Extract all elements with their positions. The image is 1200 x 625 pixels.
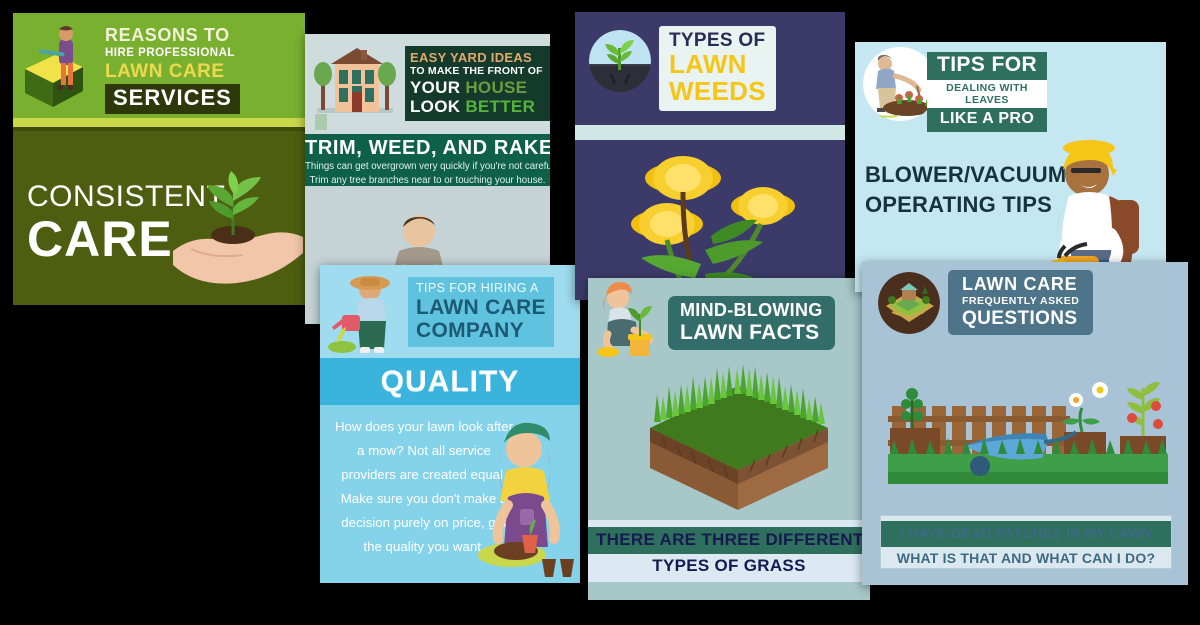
card-reasons-lawn-care-services[interactable]: REASONS TO HIRE PROFESSIONAL LAWN CARE S… — [13, 13, 305, 305]
house-icon — [311, 42, 399, 130]
header-line-2: TO MAKE THE FRONT OF — [410, 65, 550, 78]
header-line-4: LOOK BETTER — [410, 97, 550, 116]
footer-line-1: THERE ARE THREE DIFFERENT — [588, 527, 870, 554]
man-raking-leaves-icon — [863, 46, 937, 122]
footer-spacer — [588, 582, 870, 600]
card-mind-blowing-lawn-facts[interactable]: MIND-BLOWING LAWN FACTS THERE ARE THREE — [588, 278, 870, 600]
card-lawn-care-faq[interactable]: LAWN CARE FREQUENTLY ASKED QUESTIONS — [862, 262, 1188, 585]
header-line-3: QUESTIONS — [962, 308, 1079, 329]
header-line-1: MIND-BLOWING — [680, 300, 823, 321]
woman-planting-pots-icon — [472, 409, 580, 579]
fence-wheelbarrow-garden-icon — [868, 362, 1184, 492]
header-line-2: LAWN FACTS — [680, 321, 823, 344]
card-tips-dealing-with-leaves[interactable]: TIPS FOR DEALING WITH LEAVES LIKE A PRO … — [855, 42, 1166, 292]
header-line-1: TIPS FOR HIRING A — [416, 280, 546, 296]
header-text-group: REASONS TO HIRE PROFESSIONAL LAWN CARE S… — [105, 25, 303, 114]
footer-line-2: TYPES OF GRASS — [588, 554, 870, 577]
header-stripe — [575, 125, 845, 140]
header-line-3: COMPANY — [416, 319, 546, 342]
header-line-2: HIRE PROFESSIONAL — [105, 45, 303, 61]
card-footer-question: I HAVE DEAD PATCHES IN MY LAWN WHAT IS T… — [880, 515, 1172, 569]
header-line-1: TIPS FOR — [927, 52, 1047, 80]
band-heading: TRIM, WEED, AND RAKE — [305, 137, 550, 160]
header-line-2: FREQUENTLY ASKED — [962, 294, 1079, 308]
quality-band: QUALITY — [320, 358, 580, 405]
band-paragraph-1: Things can get overgrown very quickly if… — [305, 161, 550, 174]
header-line-3: WEEDS — [669, 78, 766, 105]
infographic-collage: REASONS TO HIRE PROFESSIONAL LAWN CARE S… — [0, 0, 1200, 625]
woman-potting-plant-icon — [594, 282, 666, 358]
header-line-1: LAWN CARE — [962, 274, 1079, 294]
header-line-3: YOUR HOUSE — [410, 78, 550, 97]
woman-mowing-hedge-icon — [23, 25, 107, 111]
band-title: QUALITY — [320, 358, 580, 405]
garden-aerial-view-icon — [878, 272, 940, 334]
header-line-1: EASY YARD IDEAS — [410, 50, 550, 65]
header-line-3: LIKE A PRO — [927, 108, 1047, 132]
header-line-2: DEALING WITH LEAVES — [927, 80, 1047, 108]
grass-soil-cube-icon — [646, 360, 831, 525]
header-text-block: TYPES OF LAWN WEEDS — [659, 26, 776, 111]
header-line-2: LAWN — [669, 51, 766, 78]
band-paragraph-2: Trim any tree branches near to or touchi… — [305, 175, 550, 188]
header-text-block: MIND-BLOWING LAWN FACTS — [668, 296, 835, 350]
dandelion-weeds-icon — [605, 144, 820, 300]
footer-line-2: WHAT IS THAT AND WHAT CAN I DO? — [881, 547, 1171, 569]
header-text-block: EASY YARD IDEAS TO MAKE THE FRONT OF YOU… — [405, 46, 550, 121]
card-tips-hiring-lawn-care-company[interactable]: TIPS FOR HIRING A LAWN CARE COMPANY QUAL… — [320, 265, 580, 583]
header-line-3-green: HOUSE — [465, 78, 527, 97]
header-line-4-white: LOOK — [410, 97, 460, 116]
footer-line-1: I HAVE DEAD PATCHES IN MY LAWN — [881, 521, 1171, 547]
header-line-2: LAWN CARE — [416, 296, 546, 319]
card-types-of-lawn-weeds[interactable]: TYPES OF LAWN WEEDS — [575, 12, 845, 300]
header-stripe — [13, 118, 305, 127]
sprout-in-soil-icon — [589, 30, 651, 92]
header-line-3: LAWN CARE — [105, 61, 303, 82]
card-band: TRIM, WEED, AND RAKE Things can get over… — [305, 134, 550, 186]
header-line-1: REASONS TO — [105, 25, 303, 45]
header-stripe-dark — [13, 127, 305, 131]
header-line-1: TYPES OF — [669, 30, 766, 51]
hand-holding-seedling-icon — [161, 163, 305, 293]
header-text-block: TIPS FOR HIRING A LAWN CARE COMPANY — [408, 277, 554, 347]
header-text-block: LAWN CARE FREQUENTLY ASKED QUESTIONS — [948, 270, 1093, 335]
header-line-4: SERVICES — [105, 84, 240, 114]
gardener-watering-can-icon — [328, 271, 408, 355]
card-footer: THERE ARE THREE DIFFERENT TYPES OF GRASS — [588, 520, 870, 582]
header-line-3-white: YOUR — [410, 78, 460, 97]
header-line-4-green: BETTER — [465, 97, 535, 116]
header-text-block: TIPS FOR DEALING WITH LEAVES LIKE A PRO — [927, 52, 1047, 132]
